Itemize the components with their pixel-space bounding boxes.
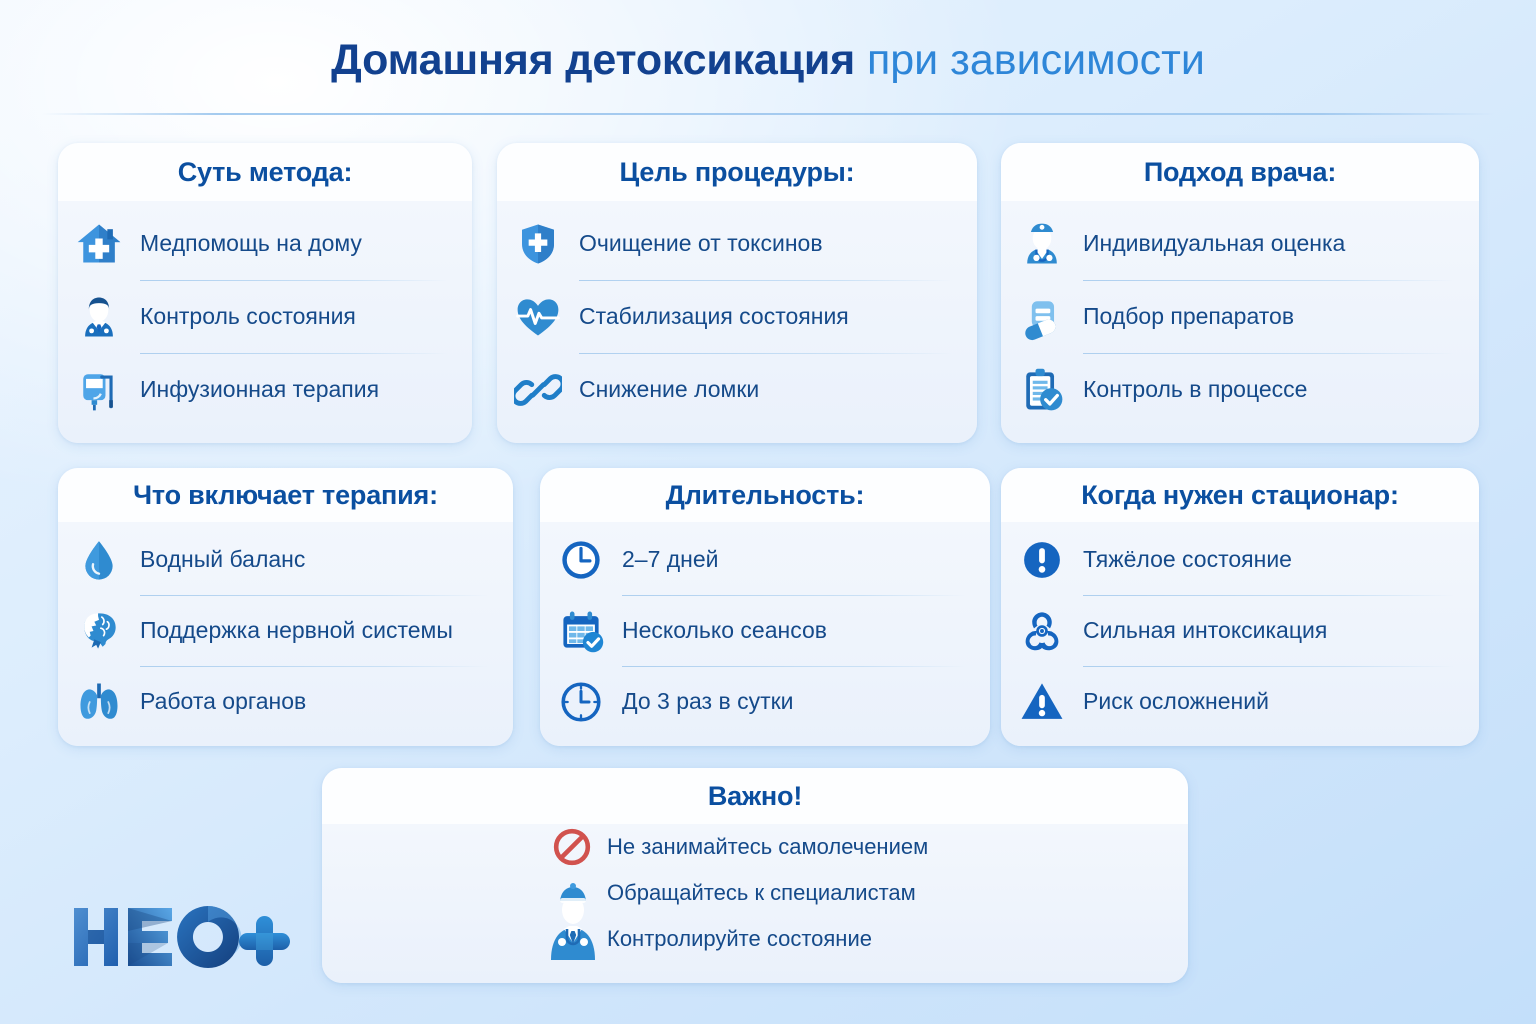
list-item-label: Поддержка нервной системы [140, 617, 453, 643]
list-item-label: 2–7 дней [622, 546, 719, 572]
list-item-label: Очищение от токсинов [579, 230, 823, 256]
list-item[interactable]: Стабилизация состояния [511, 280, 961, 353]
card-body: Индивидуальная оценка Подбор препаратов [1001, 201, 1479, 443]
list-item-label: Контролируйте состояние [607, 926, 872, 952]
clipboard-check-icon [1015, 363, 1069, 417]
shield-cross-icon [511, 217, 565, 271]
list-item[interactable]: Тяжёлое состояние [1015, 524, 1463, 595]
card-title: Подход врача: [1001, 143, 1479, 201]
iv-drip-icon [72, 363, 126, 417]
list-item[interactable]: Работа органов [72, 666, 497, 737]
doctor-stethoscope-icon [1015, 217, 1069, 271]
card-procedure-goal: Цель процедуры: Очищение от токсинов Ста… [497, 143, 977, 443]
list-item[interactable]: До 3 раз в сутки [554, 666, 974, 737]
list-item-label: Несколько сеансов [622, 617, 827, 643]
pills-icon [1015, 290, 1069, 344]
list-item[interactable]: Подбор препаратов [1015, 280, 1463, 353]
card-title: Длительность: [540, 468, 990, 522]
list-item[interactable]: Очищение от токсинов [511, 207, 961, 280]
list-item[interactable]: Поддержка нервной системы [72, 595, 497, 666]
card-important: Важно! Не занимайтесь самолечением Обращ… [322, 768, 1188, 983]
card-title: Цель процедуры: [497, 143, 977, 201]
spacer [547, 916, 597, 962]
list-item-label: Снижение ломки [579, 376, 759, 402]
card-body: Водный баланс Поддержка нервной системы [58, 522, 513, 746]
list-item[interactable]: Снижение ломки [511, 353, 961, 426]
card-body: Тяжёлое состояние Сильная интоксикация [1001, 522, 1479, 746]
list-item[interactable]: Водный баланс [72, 524, 497, 595]
card-body: Не занимайтесь самолечением Обращайтесь … [322, 824, 1188, 983]
important-list: Не занимайтесь самолечением Обращайтесь … [547, 824, 977, 962]
clock-outline-icon [554, 675, 608, 729]
list-item[interactable]: Контроль состояния [72, 280, 456, 353]
card-title: Что включает терапия: [58, 468, 513, 522]
list-item-label: Подбор препаратов [1083, 303, 1294, 329]
list-item-label: Стабилизация состояния [579, 303, 849, 329]
water-drop-icon [72, 533, 126, 587]
list-item-label: Риск осложнений [1083, 688, 1269, 714]
list-item-label: Контроль состояния [140, 303, 356, 329]
list-item[interactable]: Контролируйте состояние [547, 916, 977, 962]
list-item[interactable]: Контроль в процессе [1015, 353, 1463, 426]
calendar-check-icon [554, 604, 608, 658]
card-title: Суть метода: [58, 143, 472, 201]
list-item[interactable]: Медпомощь на дому [72, 207, 456, 280]
card-therapy-includes: Что включает терапия: Водный баланс [58, 468, 513, 746]
list-item-label: Обращайтесь к специалистам [607, 880, 916, 906]
warning-triangle-icon [1015, 675, 1069, 729]
list-item-label: Не занимайтесь самолечением [607, 834, 928, 860]
list-item-label: Работа органов [140, 688, 306, 714]
page-title-light: при зависимости [867, 36, 1205, 84]
card-title: Важно! [322, 768, 1188, 824]
home-cross-icon [72, 217, 126, 271]
biohazard-icon [1015, 604, 1069, 658]
card-when-hospital-needed: Когда нужен стационар: Тяжёлое состояние [1001, 468, 1479, 746]
card-duration: Длительность: 2–7 дней [540, 468, 990, 746]
heart-pulse-icon [511, 290, 565, 344]
card-body: Очищение от токсинов Стабилизация состоя… [497, 201, 977, 443]
lungs-icon [72, 675, 126, 729]
clock-filled-icon [554, 533, 608, 587]
card-body: Медпомощь на дому Контроль состояния [58, 201, 472, 443]
list-item-label: Медпомощь на дому [140, 230, 362, 256]
list-item[interactable]: Индивидуальная оценка [1015, 207, 1463, 280]
card-doctor-approach: Подход врача: Индивидуальная оценка [1001, 143, 1479, 443]
list-item-label: Инфузионная терапия [140, 376, 379, 402]
list-item-label: До 3 раз в сутки [622, 688, 794, 714]
list-item[interactable]: Сильная интоксикация [1015, 595, 1463, 666]
list-item-label: Индивидуальная оценка [1083, 230, 1345, 256]
list-item-label: Тяжёлое состояние [1083, 546, 1292, 572]
card-method-essence: Суть метода: Медпомощь на дому [58, 143, 472, 443]
doctor-bust-icon [72, 290, 126, 344]
exclamation-circle-icon [1015, 533, 1069, 587]
list-item[interactable]: Риск осложнений [1015, 666, 1463, 737]
list-item[interactable]: 2–7 дней [554, 524, 974, 595]
list-item[interactable]: Не занимайтесь самолечением [547, 824, 977, 870]
list-item[interactable]: Обращайтесь к специалистам [547, 870, 977, 916]
card-title: Когда нужен стационар: [1001, 468, 1479, 522]
list-item-label: Водный баланс [140, 546, 305, 572]
card-body: 2–7 дней Несколько сеанс [540, 522, 990, 746]
brand-logo [68, 898, 293, 978]
prohibition-icon [547, 824, 597, 870]
chain-link-icon [511, 363, 565, 417]
page-title-strong: Домашняя детоксикация [331, 36, 855, 84]
list-item[interactable]: Инфузионная терапия [72, 353, 456, 426]
title-divider [42, 113, 1495, 115]
brain-icon [72, 604, 126, 658]
list-item-label: Контроль в процессе [1083, 376, 1307, 402]
spacer [547, 870, 597, 916]
page-title: Домашняя детоксикация при зависимости [0, 36, 1536, 84]
list-item[interactable]: Несколько сеансов [554, 595, 974, 666]
list-item-label: Сильная интоксикация [1083, 617, 1327, 643]
